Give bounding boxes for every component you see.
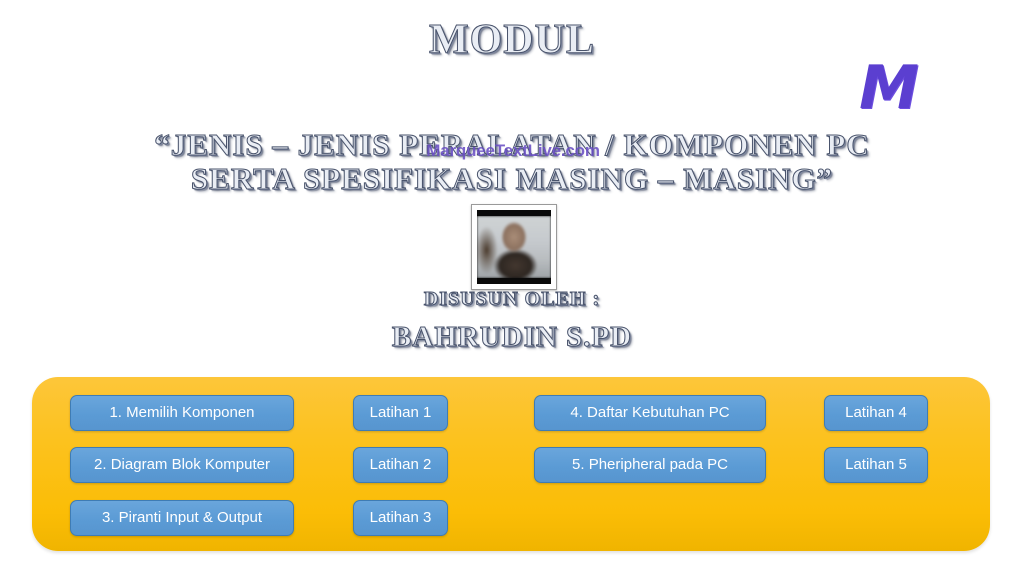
menu-item-pheripheral-pada-pc[interactable]: 5. Pheripheral pada PC: [534, 447, 766, 483]
menu-item-diagram-blok-komputer[interactable]: 2. Diagram Blok Komputer: [70, 447, 294, 483]
presentation-slide: MODUL M “JENIS – JENIS PERALATAN / KOMPO…: [0, 0, 1024, 576]
menu-item-latihan-4[interactable]: Latihan 4: [824, 395, 928, 431]
menu-item-latihan-2[interactable]: Latihan 2: [353, 447, 448, 483]
menu-item-memilih-komponen[interactable]: 1. Memilih Komponen: [70, 395, 294, 431]
author-portrait-image: [477, 216, 551, 278]
menu-panel: 1. Memilih Komponen 2. Diagram Blok Komp…: [32, 377, 990, 551]
photo-letterbox-top: [477, 210, 551, 216]
author-name: BAHRUDIN S.PD: [0, 320, 1024, 354]
photo-letterbox-bottom: [477, 278, 551, 284]
menu-item-piranti-input-output[interactable]: 3. Piranti Input & Output: [70, 500, 294, 536]
menu-item-latihan-3[interactable]: Latihan 3: [353, 500, 448, 536]
avatar: [477, 210, 551, 284]
author-photo-frame: [471, 204, 557, 290]
menu-item-latihan-1[interactable]: Latihan 1: [353, 395, 448, 431]
subtitle-line-1: “JENIS – JENIS PERALATAN / KOMPONEN PC: [0, 128, 1024, 162]
credit-label: DISUSUN OLEH :: [0, 287, 1024, 311]
marquee-m-logo-icon: M: [849, 56, 929, 120]
menu-item-latihan-5[interactable]: Latihan 5: [824, 447, 928, 483]
menu-item-daftar-kebutuhan-pc[interactable]: 4. Daftar Kebutuhan PC: [534, 395, 766, 431]
subtitle-line-2: SERTA SPESIFIKASI MASING – MASING”: [0, 162, 1024, 196]
subtitle-block: “JENIS – JENIS PERALATAN / KOMPONEN PC S…: [0, 128, 1024, 196]
